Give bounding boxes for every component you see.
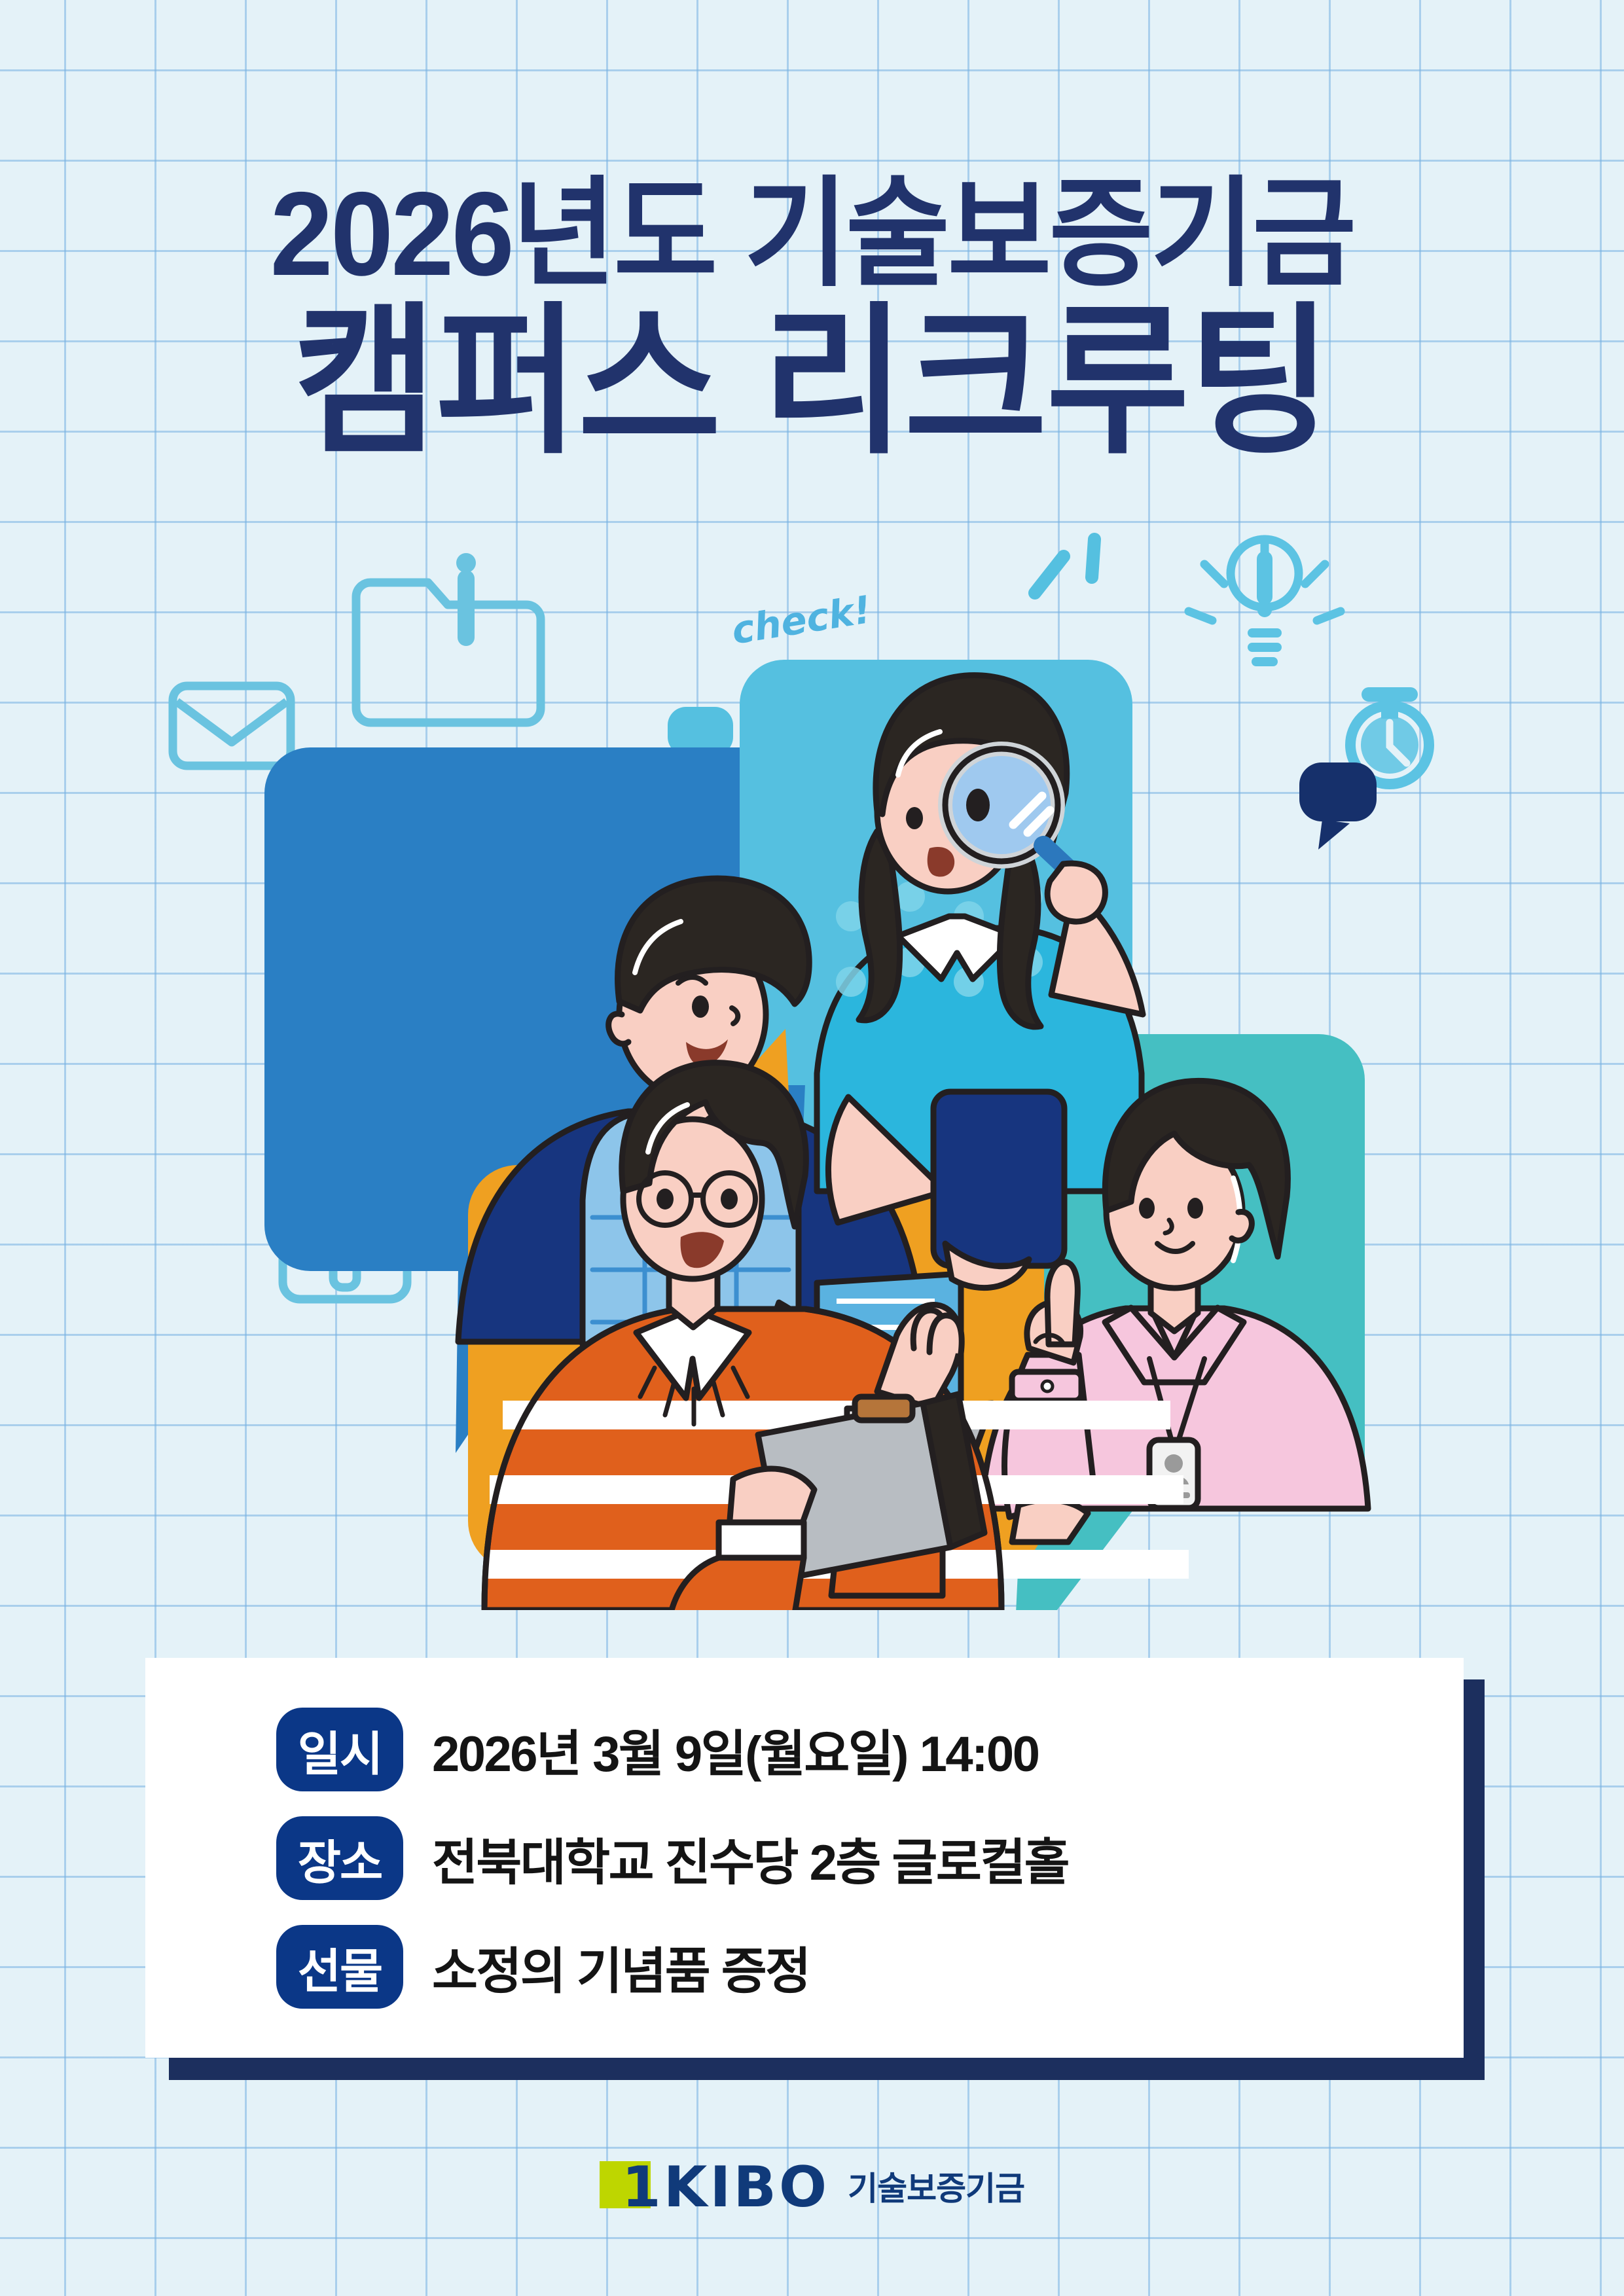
folder-info-icon — [356, 553, 541, 723]
info-value-gift: 소정의 기념품 증정 — [432, 1931, 810, 2003]
poster-headline: 2026년도 기술보증기금 캠퍼스 리크루팅 — [0, 175, 1624, 461]
kibo-logo-korean-name: 기술보증기금 — [848, 2162, 1024, 2212]
headline-line-1: 2026년도 기술보증기금 — [41, 175, 1583, 292]
info-row-list: 일시 2026년 3월 9일(월요일) 14:00 장소 전북대학교 진수당 2… — [276, 1706, 1068, 2010]
check-handwriting: check! — [729, 587, 874, 653]
kibo-logo-mark: 1KIBO — [600, 2157, 829, 2217]
illustration-stage: check! — [0, 497, 1624, 1610]
kibo-logo: 1KIBO 기술보증기금 — [0, 2157, 1624, 2217]
kibo-logo-digit: 1 — [622, 2155, 664, 2220]
info-row-gift: 선물 소정의 기념품 증정 — [276, 1924, 1068, 2010]
kibo-logo-wordmark: 1KIBO — [600, 2159, 829, 2215]
info-label-venue: 장소 — [276, 1816, 403, 1900]
lightbulb-idea-icon — [1189, 539, 1341, 666]
envelope-icon — [173, 686, 291, 766]
info-value-date: 2026년 3월 9일(월요일) 14:00 — [432, 1713, 1038, 1785]
info-row-date: 일시 2026년 3월 9일(월요일) 14:00 — [276, 1706, 1068, 1793]
headline-line-2: 캠퍼스 리크루팅 — [33, 302, 1592, 461]
info-value-venue: 전북대학교 진수당 2층 글로컬홀 — [432, 1822, 1068, 1894]
info-label-date: 일시 — [276, 1708, 403, 1791]
info-label-gift: 선물 — [276, 1925, 403, 2009]
info-row-venue: 장소 전북대학교 진수당 2층 글로컬홀 — [276, 1815, 1068, 1901]
info-card: 일시 2026년 3월 9일(월요일) 14:00 장소 전북대학교 진수당 2… — [145, 1658, 1464, 2058]
bubble-small-navy — [1299, 762, 1377, 850]
poster-root: 2026년도 기술보증기금 캠퍼스 리크루팅 — [0, 0, 1624, 2296]
kibo-logo-letters: KIBO — [664, 2155, 829, 2220]
spark-lines — [1035, 539, 1094, 593]
